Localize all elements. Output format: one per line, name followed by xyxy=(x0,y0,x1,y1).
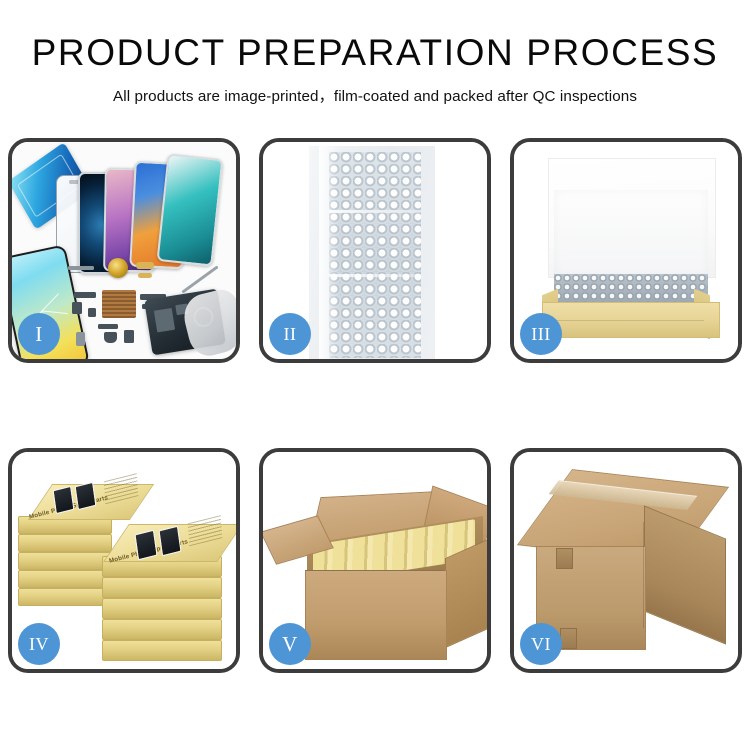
retail-box xyxy=(18,534,112,552)
carton-edge xyxy=(305,570,445,571)
page-header: PRODUCT PREPARATION PROCESS All products… xyxy=(0,0,750,106)
step-badge-4: IV xyxy=(18,623,60,665)
retail-box xyxy=(18,588,112,606)
retail-box xyxy=(102,619,222,640)
step-badge-3: III xyxy=(520,313,562,355)
box-product-image xyxy=(53,486,75,514)
spare-part xyxy=(124,330,134,343)
box-product-image xyxy=(158,526,181,557)
page-subtitle: All products are image-printed，film-coat… xyxy=(0,84,750,106)
spare-part xyxy=(138,273,152,278)
process-step-panel-5: V xyxy=(259,448,491,673)
connector-grid-chip xyxy=(102,290,136,318)
spare-part xyxy=(76,332,85,346)
carton-front-panel xyxy=(305,570,447,660)
bubble-wrap-texture xyxy=(329,152,421,358)
spare-part xyxy=(104,332,117,343)
step-badge-1: I xyxy=(18,313,60,355)
crack-line xyxy=(42,293,59,311)
retail-box xyxy=(18,570,112,588)
spare-part xyxy=(88,308,96,317)
carton-tab xyxy=(556,548,573,569)
wrap-seam xyxy=(329,210,421,213)
box-fold-line xyxy=(554,320,704,321)
step-badge-2: II xyxy=(269,313,311,355)
process-step-panel-1: I xyxy=(8,138,240,363)
spare-part xyxy=(136,262,154,269)
step-badge-6: VI xyxy=(520,623,562,665)
process-steps-grid: I II III xyxy=(8,138,742,673)
foam-padding-sheet xyxy=(554,190,708,276)
box-product-image xyxy=(134,530,157,561)
process-step-panel-4: Mobile Phone Spare Parts Mobile Phone Sp… xyxy=(8,448,240,673)
spare-part xyxy=(74,292,96,298)
carton-tab xyxy=(560,628,577,649)
spare-part xyxy=(68,266,94,270)
phone-display-teal xyxy=(157,153,224,266)
spare-part xyxy=(98,324,118,329)
process-step-panel-6: VI xyxy=(510,448,742,673)
spare-part xyxy=(72,302,82,314)
carton-side-right xyxy=(445,538,487,648)
retail-box xyxy=(102,577,222,598)
retail-box xyxy=(102,598,222,619)
page-title: PRODUCT PREPARATION PROCESS xyxy=(0,34,750,73)
process-step-panel-3: III xyxy=(510,138,742,363)
board-chip xyxy=(154,308,175,333)
wrap-highlight xyxy=(319,146,339,359)
process-step-panel-2: II xyxy=(259,138,491,363)
retail-box xyxy=(102,640,222,661)
step-badge-5: V xyxy=(269,623,311,665)
carton-edge xyxy=(643,522,644,628)
retail-box xyxy=(18,552,112,570)
gold-speaker-component xyxy=(108,258,128,278)
wrap-seam xyxy=(329,274,421,277)
box-product-image xyxy=(75,482,97,510)
